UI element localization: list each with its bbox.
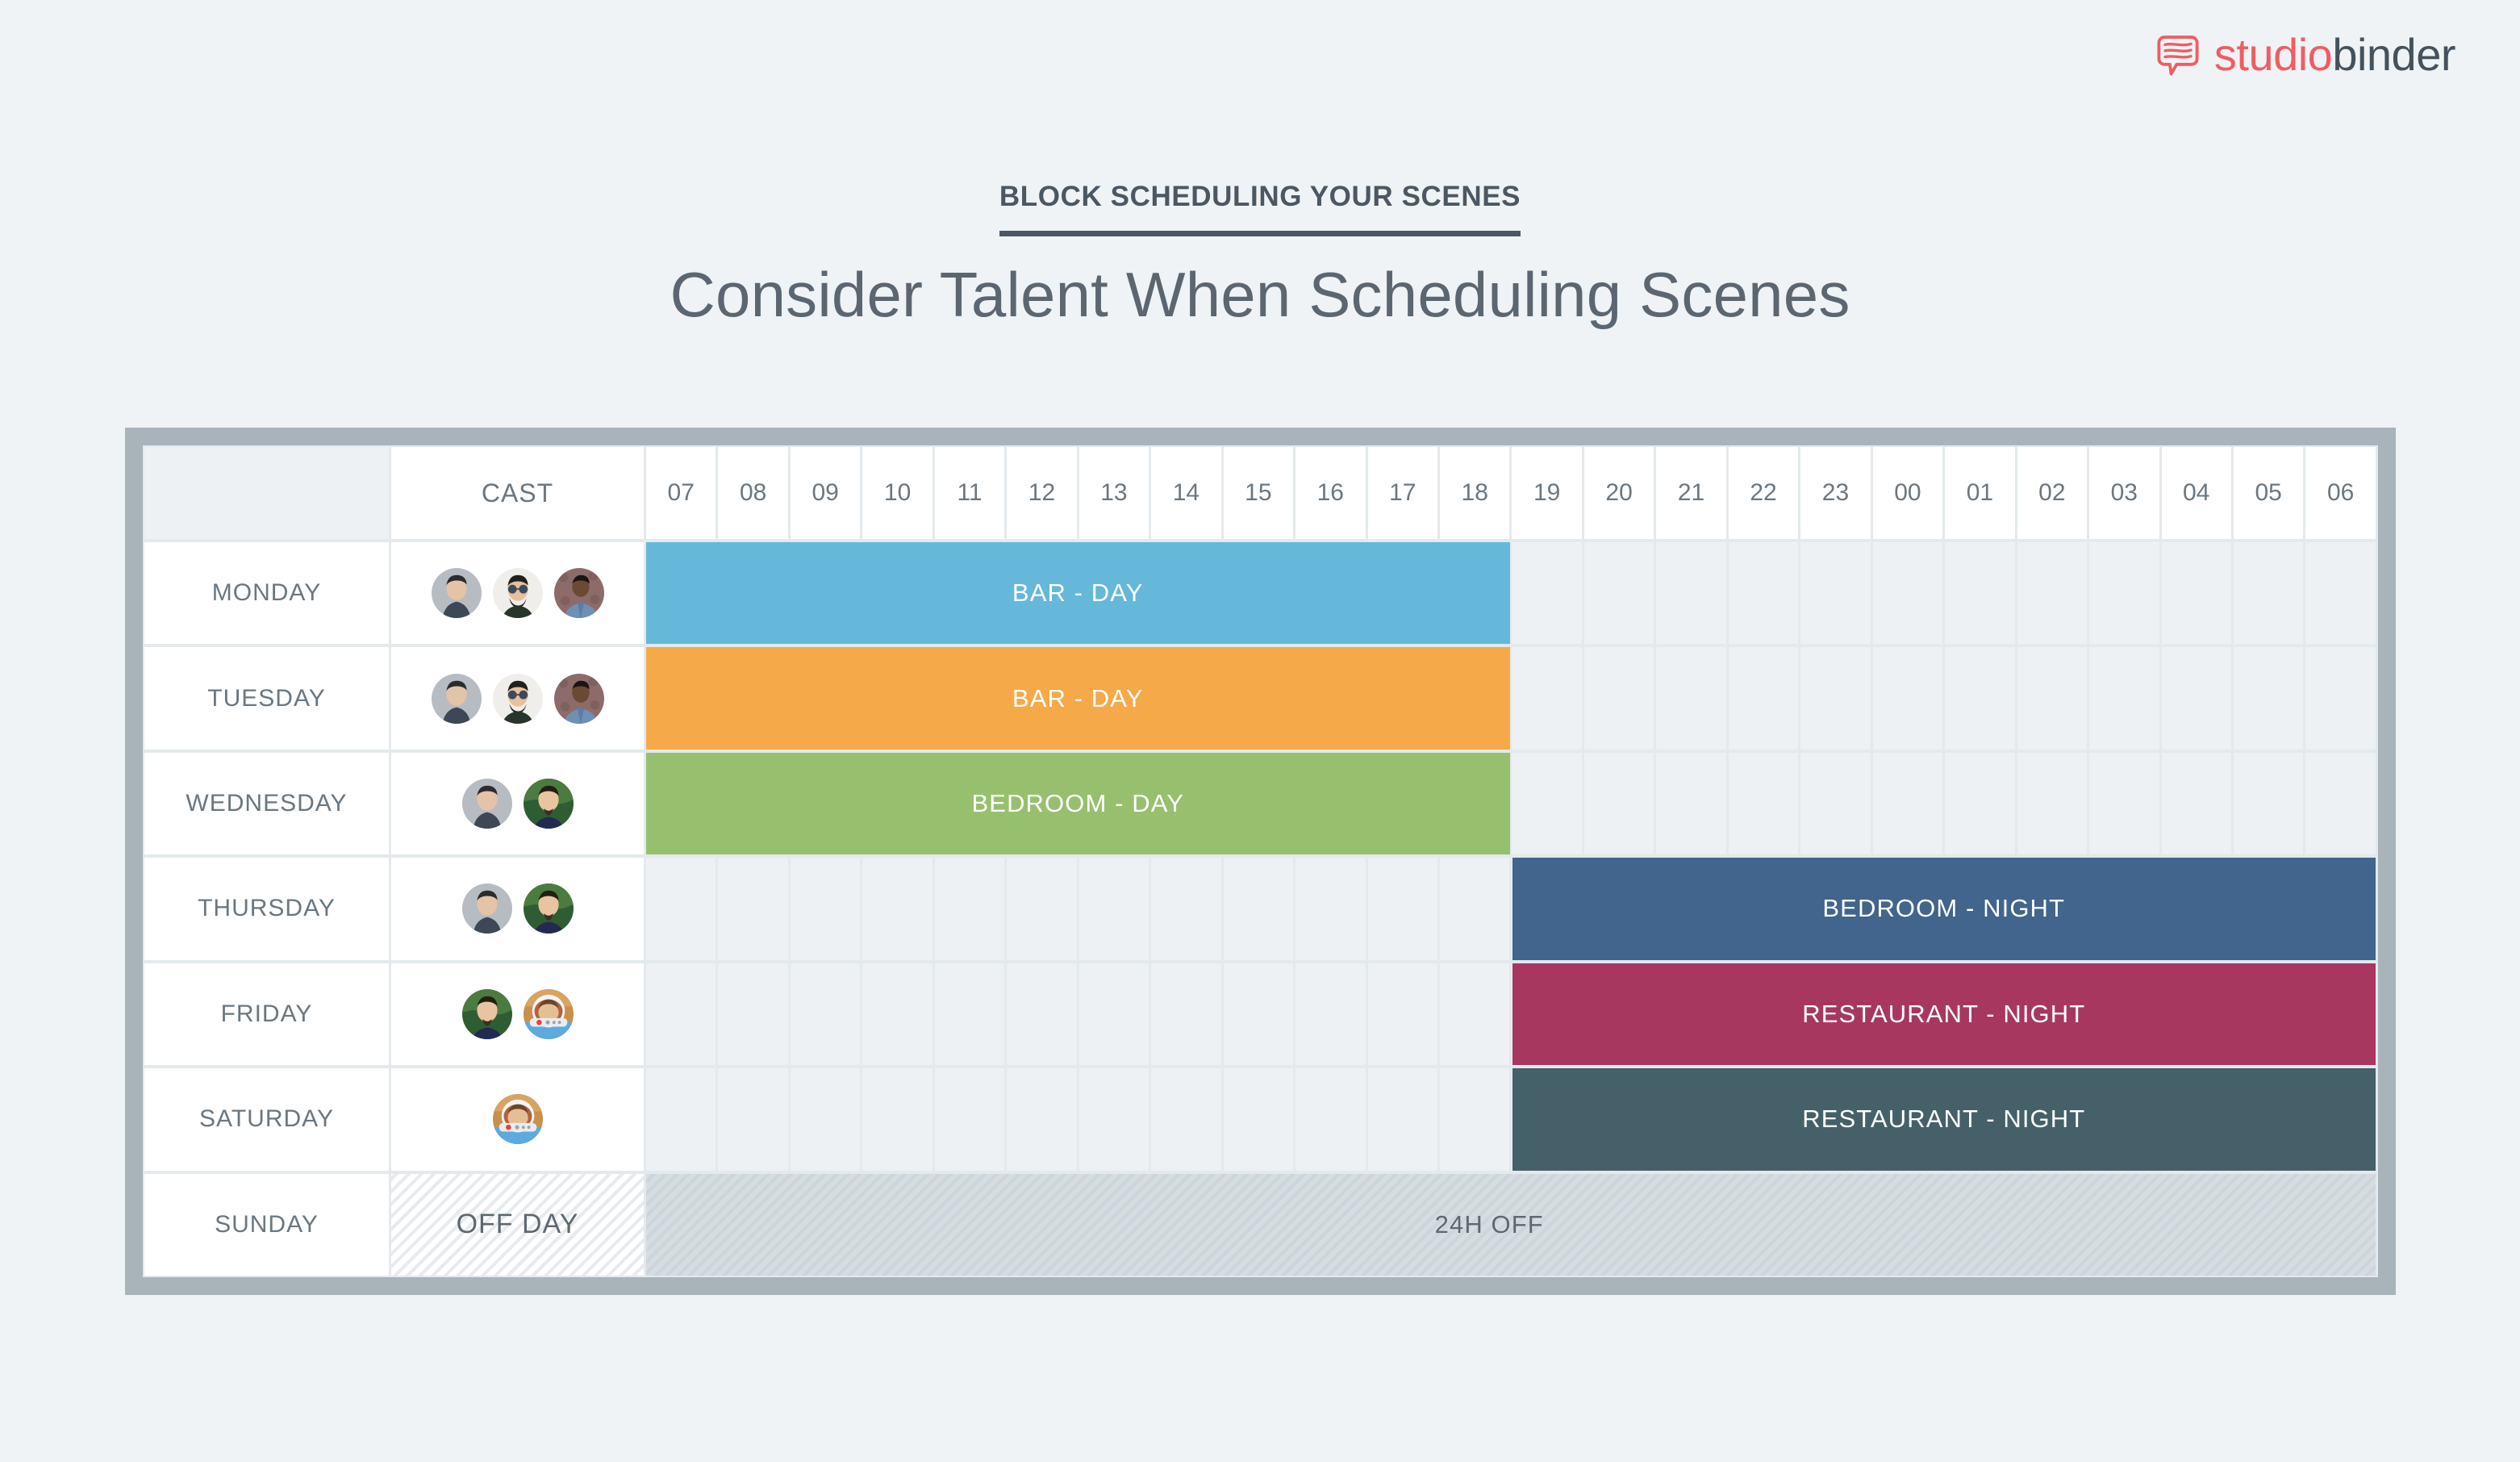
header-cast-cell: CAST <box>391 447 644 539</box>
slot-wednesday-04[interactable] <box>2162 753 2231 854</box>
cast-cell[interactable] <box>391 963 644 1065</box>
avatar-astronaut-helmet[interactable] <box>493 1094 543 1144</box>
slot-saturday-18[interactable] <box>1440 1068 1509 1170</box>
day-label-wednesday: WEDNESDAY <box>144 753 389 854</box>
hour-header-cell-09: 09 <box>791 447 860 539</box>
infographic-page: studiobinder BLOCK SCHEDULING YOUR SCENE… <box>0 0 2520 1462</box>
slot-thursday-13[interactable] <box>1079 858 1149 959</box>
eyebrow-container: BLOCK SCHEDULING YOUR SCENES <box>0 181 2520 236</box>
slot-friday-10[interactable] <box>862 963 932 1065</box>
logo-wordmark-binder: binder <box>2332 29 2455 80</box>
event-label: BAR - DAY <box>1012 579 1144 608</box>
schedule-row[interactable]: TUESDAYBAR - DAY <box>143 645 2378 750</box>
avatar-astronaut-helmet[interactable] <box>524 989 574 1039</box>
slot-wednesday-05[interactable] <box>2234 753 2303 854</box>
schedule-row[interactable]: SUNDAYOFF DAY24H OFF <box>143 1172 2378 1277</box>
logo-wordmark: studiobinder <box>2214 32 2455 77</box>
slot-monday-06[interactable] <box>2305 542 2375 644</box>
hour-header-cell-17: 17 <box>1368 447 1437 539</box>
slot-wednesday-03[interactable] <box>2089 753 2159 854</box>
hour-header-cell-21: 21 <box>1656 447 1725 539</box>
day-label-tuesday: TUESDAY <box>144 647 389 749</box>
slot-wednesday-06[interactable] <box>2305 753 2375 854</box>
event-block-wednesday[interactable]: BEDROOM - DAY <box>646 753 1510 854</box>
slot-friday-17[interactable] <box>1368 963 1437 1065</box>
event-label: BAR - DAY <box>1012 684 1144 713</box>
slot-saturday-17[interactable] <box>1368 1068 1437 1170</box>
event-block-thursday[interactable]: BEDROOM - NIGHT <box>1512 858 2376 959</box>
slot-monday-23[interactable] <box>1800 542 1870 644</box>
slot-tuesday-19[interactable] <box>1512 647 1581 749</box>
slot-monday-19[interactable] <box>1512 542 1581 644</box>
slot-thursday-08[interactable] <box>718 858 787 959</box>
hour-header-cell-04: 04 <box>2162 447 2231 539</box>
hour-header-cell-20: 20 <box>1584 447 1654 539</box>
slot-friday-15[interactable] <box>1224 963 1293 1065</box>
slot-saturday-12[interactable] <box>1007 1068 1076 1170</box>
slot-tuesday-20[interactable] <box>1584 647 1654 749</box>
avatar-man-gray-backdrop[interactable] <box>462 883 512 934</box>
slot-friday-12[interactable] <box>1007 963 1076 1065</box>
hour-track: BEDROOM - NIGHT <box>646 856 2378 961</box>
hour-header-cell-18: 18 <box>1440 447 1509 539</box>
day-label-friday: FRIDAY <box>144 963 389 1065</box>
avatar-man-green-backdrop[interactable] <box>524 883 574 934</box>
hour-header-cell-01: 01 <box>1945 447 2014 539</box>
hour-header-cell-05: 05 <box>2234 447 2303 539</box>
slot-tuesday-00[interactable] <box>1873 647 1942 749</box>
hour-header-track: 0708091011121314151617181920212223000102… <box>646 445 2378 541</box>
slot-thursday-16[interactable] <box>1295 858 1365 959</box>
day-label-monday: MONDAY <box>144 542 389 644</box>
schedule-grid: CAST070809101112131415161718192021222300… <box>143 445 2378 1277</box>
slot-monday-02[interactable] <box>2017 542 2087 644</box>
hour-header-cell-15: 15 <box>1224 447 1293 539</box>
hour-header-cell-06: 06 <box>2305 447 2375 539</box>
avatar-man-gray-backdrop[interactable] <box>462 779 512 829</box>
hour-header-cell-23: 23 <box>1800 447 1870 539</box>
day-label-thursday: THURSDAY <box>144 858 389 959</box>
slot-wednesday-00[interactable] <box>1873 753 1942 854</box>
slot-monday-03[interactable] <box>2089 542 2159 644</box>
hour-header-cell-14: 14 <box>1151 447 1220 539</box>
slot-friday-08[interactable] <box>718 963 787 1065</box>
slot-thursday-11[interactable] <box>935 858 1004 959</box>
avatar-man-green-backdrop[interactable] <box>524 779 574 829</box>
avatar-man-gray-backdrop[interactable] <box>432 674 482 724</box>
avatar-man-gray-backdrop[interactable] <box>432 568 482 618</box>
slot-saturday-08[interactable] <box>718 1068 787 1170</box>
slot-wednesday-02[interactable] <box>2017 753 2087 854</box>
hour-header-cell-08: 08 <box>718 447 787 539</box>
slot-thursday-07[interactable] <box>646 858 716 959</box>
eyebrow-heading: BLOCK SCHEDULING YOUR SCENES <box>999 181 1521 236</box>
slot-tuesday-01[interactable] <box>1945 647 2014 749</box>
avatar-man-denim-shirt[interactable] <box>554 674 604 724</box>
slot-monday-22[interactable] <box>1729 542 1798 644</box>
slot-saturday-13[interactable] <box>1079 1068 1149 1170</box>
slot-monday-05[interactable] <box>2234 542 2303 644</box>
hour-header-cell-19: 19 <box>1512 447 1581 539</box>
slot-tuesday-03[interactable] <box>2089 647 2159 749</box>
hour-header-cell-10: 10 <box>862 447 932 539</box>
slot-tuesday-23[interactable] <box>1800 647 1870 749</box>
speech-bubble-icon <box>2156 33 2200 77</box>
slot-thursday-17[interactable] <box>1368 858 1437 959</box>
event-label: 24H OFF <box>1435 1210 1544 1239</box>
slot-tuesday-02[interactable] <box>2017 647 2087 749</box>
slot-thursday-15[interactable] <box>1224 858 1293 959</box>
slot-monday-04[interactable] <box>2162 542 2231 644</box>
schedule-header-row: CAST070809101112131415161718192021222300… <box>143 445 2378 541</box>
event-block-tuesday[interactable]: BAR - DAY <box>646 647 1510 749</box>
hour-track: BAR - DAY <box>646 645 2378 750</box>
hour-header-cell-13: 13 <box>1079 447 1149 539</box>
slot-friday-14[interactable] <box>1151 963 1220 1065</box>
slot-thursday-14[interactable] <box>1151 858 1220 959</box>
slot-saturday-07[interactable] <box>646 1068 716 1170</box>
cast-cell[interactable] <box>391 1068 644 1170</box>
hour-track: BAR - DAY <box>646 541 2378 645</box>
schedule-row[interactable]: WEDNESDAYBEDROOM - DAY <box>143 751 2378 856</box>
slot-saturday-14[interactable] <box>1151 1068 1220 1170</box>
hour-track: BEDROOM - DAY <box>646 751 2378 856</box>
slot-saturday-16[interactable] <box>1295 1068 1365 1170</box>
cast-cell[interactable] <box>391 858 644 959</box>
slot-wednesday-20[interactable] <box>1584 753 1654 854</box>
event-block-sunday[interactable]: 24H OFF <box>646 1174 2376 1276</box>
slot-tuesday-22[interactable] <box>1729 647 1798 749</box>
cast-cell[interactable] <box>391 542 644 644</box>
schedule-row[interactable]: FRIDAYRESTAURANT - NIGHT <box>143 962 2378 1067</box>
logo-wordmark-studio: studio <box>2214 29 2332 80</box>
day-label-sunday: SUNDAY <box>144 1174 389 1276</box>
slot-friday-18[interactable] <box>1440 963 1509 1065</box>
slot-tuesday-04[interactable] <box>2162 647 2231 749</box>
cast-cell[interactable] <box>391 647 644 749</box>
hour-header-cell-16: 16 <box>1295 447 1365 539</box>
slot-friday-09[interactable] <box>791 963 860 1065</box>
off-day-label: OFF DAY <box>457 1209 579 1240</box>
slot-saturday-15[interactable] <box>1224 1068 1293 1170</box>
slot-monday-20[interactable] <box>1584 542 1654 644</box>
schedule-row[interactable]: MONDAYBAR - DAY <box>143 541 2378 645</box>
slot-monday-01[interactable] <box>1945 542 2014 644</box>
day-label-saturday: SATURDAY <box>144 1068 389 1170</box>
slot-saturday-09[interactable] <box>791 1068 860 1170</box>
off-day-cell[interactable]: OFF DAY <box>391 1174 644 1276</box>
hour-track: 24H OFF <box>646 1172 2378 1277</box>
hour-track: RESTAURANT - NIGHT <box>646 1067 2378 1172</box>
hour-header-cell-12: 12 <box>1007 447 1076 539</box>
studiobinder-logo: studiobinder <box>2156 32 2455 77</box>
slot-wednesday-22[interactable] <box>1729 753 1798 854</box>
event-label: BEDROOM - DAY <box>972 789 1184 818</box>
event-label: RESTAURANT - NIGHT <box>1802 1000 2085 1029</box>
slot-monday-00[interactable] <box>1873 542 1942 644</box>
slot-saturday-10[interactable] <box>862 1068 932 1170</box>
schedule-row[interactable]: THURSDAYBEDROOM - NIGHT <box>143 856 2378 961</box>
schedule-board-frame: CAST070809101112131415161718192021222300… <box>125 428 2396 1295</box>
avatar-man-sunglasses[interactable] <box>493 568 543 618</box>
slot-friday-11[interactable] <box>935 963 1004 1065</box>
hour-header-cell-00: 00 <box>1873 447 1942 539</box>
hour-header-cell-22: 22 <box>1729 447 1798 539</box>
avatar-man-sunglasses[interactable] <box>493 674 543 724</box>
slot-friday-07[interactable] <box>646 963 716 1065</box>
slot-thursday-12[interactable] <box>1007 858 1076 959</box>
hour-header-cell-07: 07 <box>646 447 716 539</box>
event-block-saturday[interactable]: RESTAURANT - NIGHT <box>1512 1068 2376 1170</box>
slot-thursday-10[interactable] <box>862 858 932 959</box>
hour-header-cell-03: 03 <box>2089 447 2159 539</box>
slot-tuesday-21[interactable] <box>1656 647 1725 749</box>
cast-column-label: CAST <box>482 478 553 508</box>
slot-tuesday-05[interactable] <box>2234 647 2303 749</box>
event-label: RESTAURANT - NIGHT <box>1802 1105 2085 1134</box>
event-block-monday[interactable]: BAR - DAY <box>646 542 1510 644</box>
slot-tuesday-06[interactable] <box>2305 647 2375 749</box>
event-label: BEDROOM - NIGHT <box>1822 894 2065 923</box>
slot-wednesday-19[interactable] <box>1512 753 1581 854</box>
cast-cell[interactable] <box>391 753 644 854</box>
event-block-friday[interactable]: RESTAURANT - NIGHT <box>1512 963 2376 1065</box>
slot-thursday-18[interactable] <box>1440 858 1509 959</box>
slot-monday-21[interactable] <box>1656 542 1725 644</box>
avatar-man-green-backdrop[interactable] <box>462 989 512 1039</box>
hour-header-cell-11: 11 <box>935 447 1004 539</box>
slot-wednesday-23[interactable] <box>1800 753 1870 854</box>
slot-saturday-11[interactable] <box>935 1068 1004 1170</box>
hour-header-cell-02: 02 <box>2017 447 2087 539</box>
slot-thursday-09[interactable] <box>791 858 860 959</box>
schedule-row[interactable]: SATURDAYRESTAURANT - NIGHT <box>143 1067 2378 1172</box>
avatar-man-denim-shirt[interactable] <box>554 568 604 618</box>
page-title: Consider Talent When Scheduling Scenes <box>0 258 2520 332</box>
slot-friday-16[interactable] <box>1295 963 1365 1065</box>
hour-track: RESTAURANT - NIGHT <box>646 962 2378 1067</box>
header-corner-cell <box>144 447 389 539</box>
slot-friday-13[interactable] <box>1079 963 1149 1065</box>
slot-wednesday-21[interactable] <box>1656 753 1725 854</box>
slot-wednesday-01[interactable] <box>1945 753 2014 854</box>
